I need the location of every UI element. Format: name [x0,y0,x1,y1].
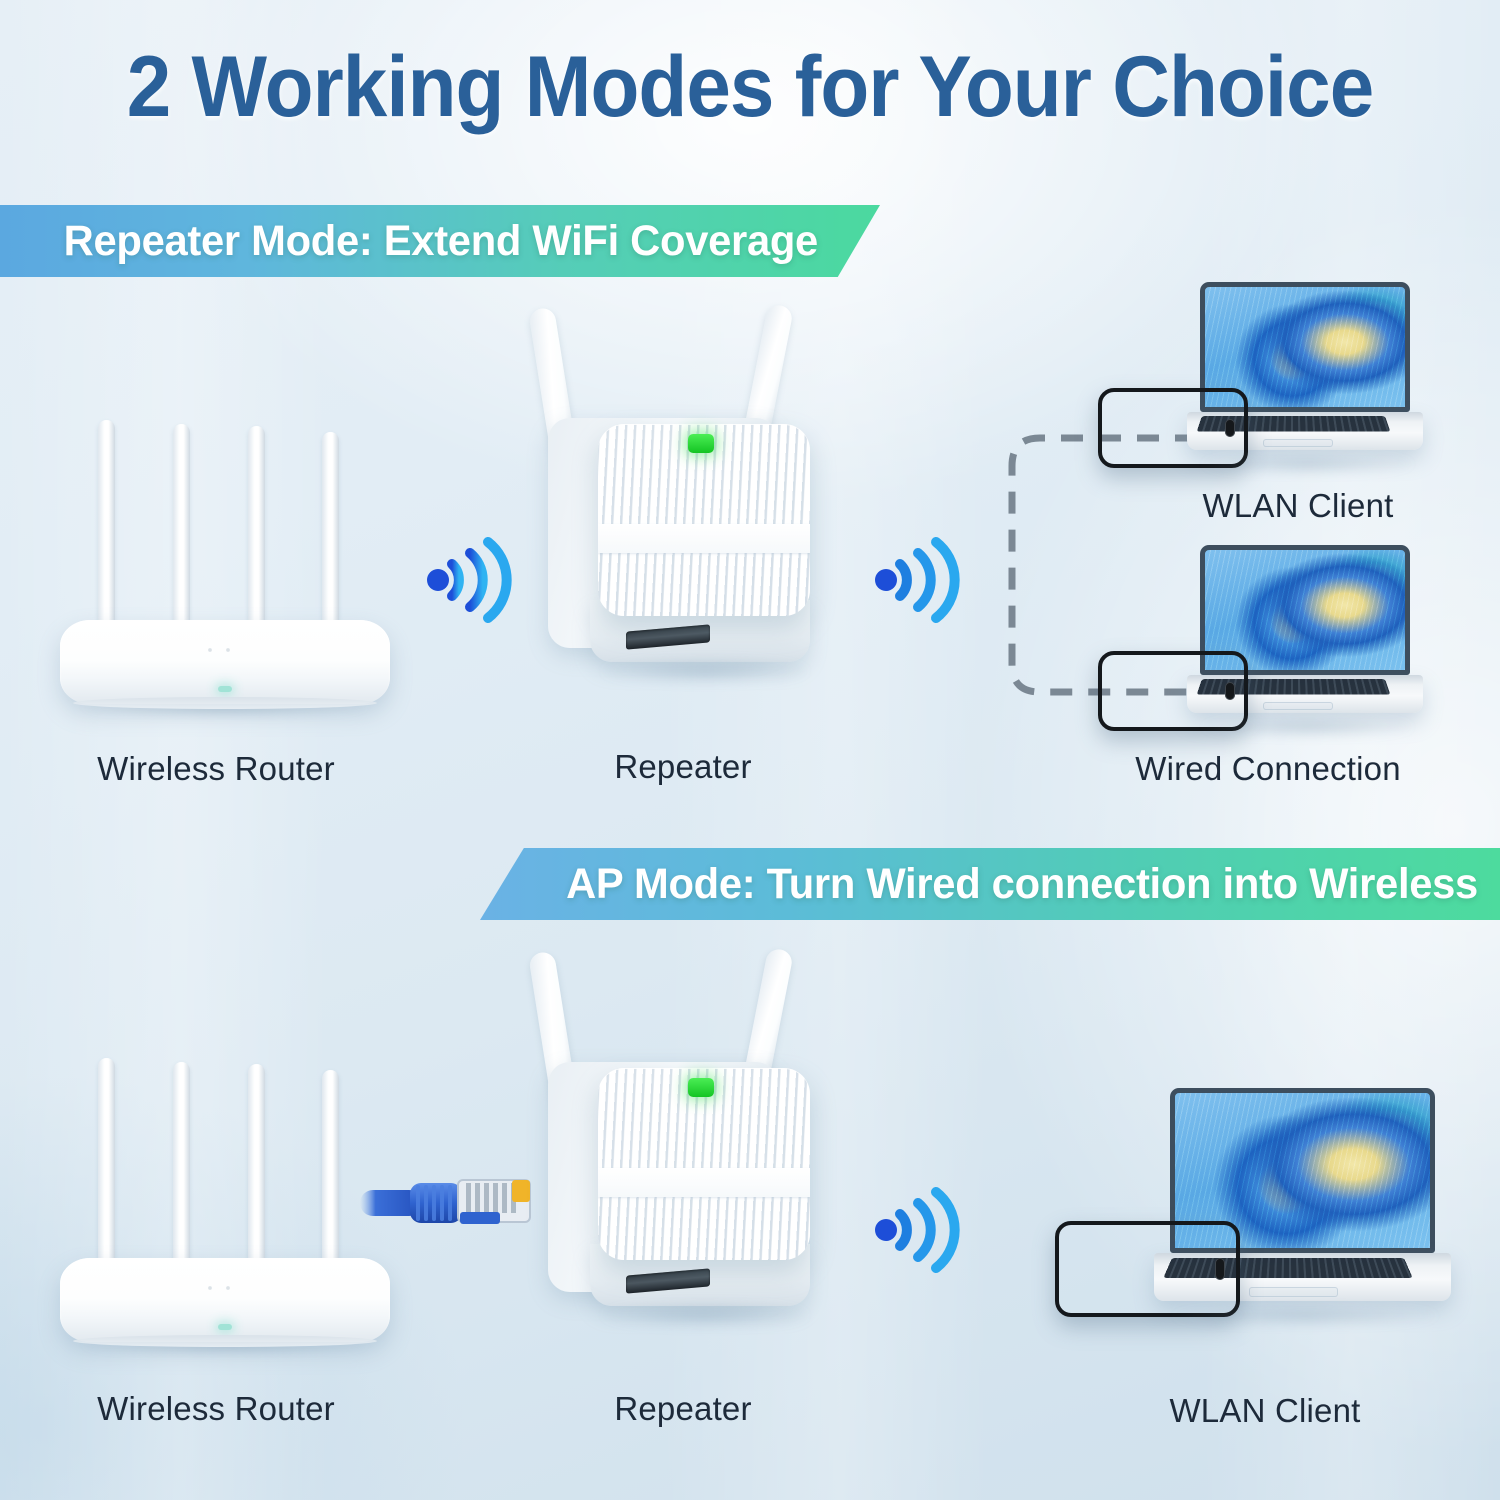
banner-ap-mode: AP Mode: Turn Wired connection into Wire… [480,848,1500,920]
laptop-trackpad [1263,702,1334,710]
caption-wireless-router-2: Wireless Router [97,1390,335,1428]
router-body [60,620,390,704]
smartphone [1098,651,1248,731]
router-status-leds [202,1283,248,1293]
banner-repeater-mode-label: Repeater Mode: Extend WiFi Coverage [64,217,818,266]
wifi-repeater-icon [540,300,840,700]
router-antenna [322,1070,339,1284]
phone-camera-notch [1225,419,1235,436]
caption-repeater-1: Repeater [614,748,751,786]
wifi-repeater-icon [540,944,840,1344]
router-antenna [98,1058,115,1284]
phone-camera-notch [1215,1258,1225,1279]
laptop-trackpad [1263,439,1334,447]
router-antenna [322,432,339,646]
caption-wired-connection: Wired Connection [1135,750,1401,788]
phone-camera-notch [1225,682,1235,699]
wireless-router-icon [60,1058,390,1358]
repeater-band [598,1168,810,1197]
laptop-phone-icon [1090,282,1440,482]
router-power-led [218,686,232,692]
router-antenna [98,420,115,646]
laptop-shadow [1170,1306,1440,1326]
ethernet-port [626,624,710,649]
wifi-signal-icon [418,528,518,628]
laptop-phone-icon [1090,545,1440,745]
router-power-led [218,1324,232,1330]
repeater-status-led [688,1078,714,1097]
repeater-status-led [688,434,714,453]
wifi-signal-icon [866,1178,966,1278]
smartphone [1098,388,1248,468]
caption-wlan-client-2: WLAN Client [1169,1392,1360,1430]
laptop-shadow [1200,717,1415,737]
infographic-page: 2 Working Modes for Your Choice Repeater… [0,0,1500,1500]
laptop-phone-icon [1055,1088,1475,1338]
laptop-trackpad [1249,1287,1338,1298]
ethernet-port [626,1268,710,1293]
router-body [60,1258,390,1342]
repeater-band [598,524,810,553]
banner-ap-mode-label: AP Mode: Turn Wired connection into Wire… [566,860,1478,909]
wireless-router-icon [60,420,390,720]
router-antenna [248,1064,265,1284]
router-antenna [248,426,265,646]
smartphone [1055,1221,1240,1317]
router-antenna [173,1062,190,1284]
phone-wallpaper [1102,655,1244,727]
caption-wlan-client-1: WLAN Client [1202,487,1393,525]
caption-wireless-router-1: Wireless Router [97,750,335,788]
banner-repeater-mode: Repeater Mode: Extend WiFi Coverage [0,205,880,277]
caption-repeater-2: Repeater [614,1390,751,1428]
repeater-shadow [600,1302,810,1328]
phone-wallpaper [1059,1225,1236,1313]
page-title: 2 Working Modes for Your Choice [53,44,1448,130]
laptop-shadow [1200,454,1415,474]
wifi-signal-icon [866,528,966,628]
router-antenna [173,424,190,646]
repeater-shadow [600,658,810,684]
phone-wallpaper [1102,392,1244,464]
router-status-leds [202,645,248,655]
